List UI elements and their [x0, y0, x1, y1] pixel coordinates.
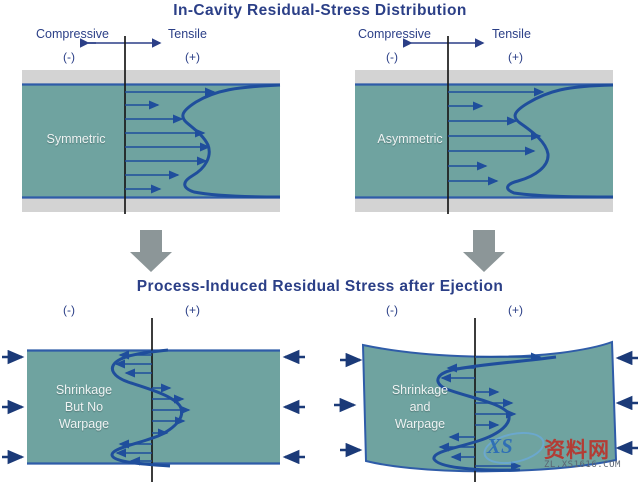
panel-top-left-symmetric — [22, 36, 280, 214]
panel-top-right-asymmetric — [355, 36, 613, 214]
shrinkage-arrows-bottom-left-side — [2, 357, 22, 457]
watermark: XS 资料网 ZL.XS1616.COM — [487, 432, 635, 480]
caption-bottom-right-line2: and — [370, 400, 470, 415]
caption-bottom-left-line3: Warpage — [34, 417, 134, 432]
caption-top-left: Symmetric — [28, 132, 124, 147]
mold-wall-top-left-upper — [22, 70, 280, 84]
flow-arrow-right — [463, 230, 505, 272]
mold-wall-top-left-lower — [22, 198, 280, 212]
mold-wall-top-right-upper — [355, 70, 613, 84]
diagram-canvas: In-Cavity Residual-Stress Distribution P… — [0, 0, 640, 484]
flow-arrow-left — [130, 230, 172, 272]
watermark-logo-text: XS — [487, 434, 513, 459]
mold-wall-top-right-lower — [355, 198, 613, 212]
caption-bottom-right-line1: Shrinkage — [370, 383, 470, 398]
shrinkage-arrows-bottom-right-panel-left — [334, 360, 360, 450]
shrinkage-arrows-bottom-right-side — [285, 357, 305, 457]
caption-bottom-left-line2: But No — [34, 400, 134, 415]
watermark-domain: ZL.XS1616.COM — [544, 460, 621, 470]
caption-top-right: Asymmetric — [360, 132, 460, 147]
caption-bottom-left-line1: Shrinkage — [34, 383, 134, 398]
caption-bottom-right-line3: Warpage — [370, 417, 470, 432]
